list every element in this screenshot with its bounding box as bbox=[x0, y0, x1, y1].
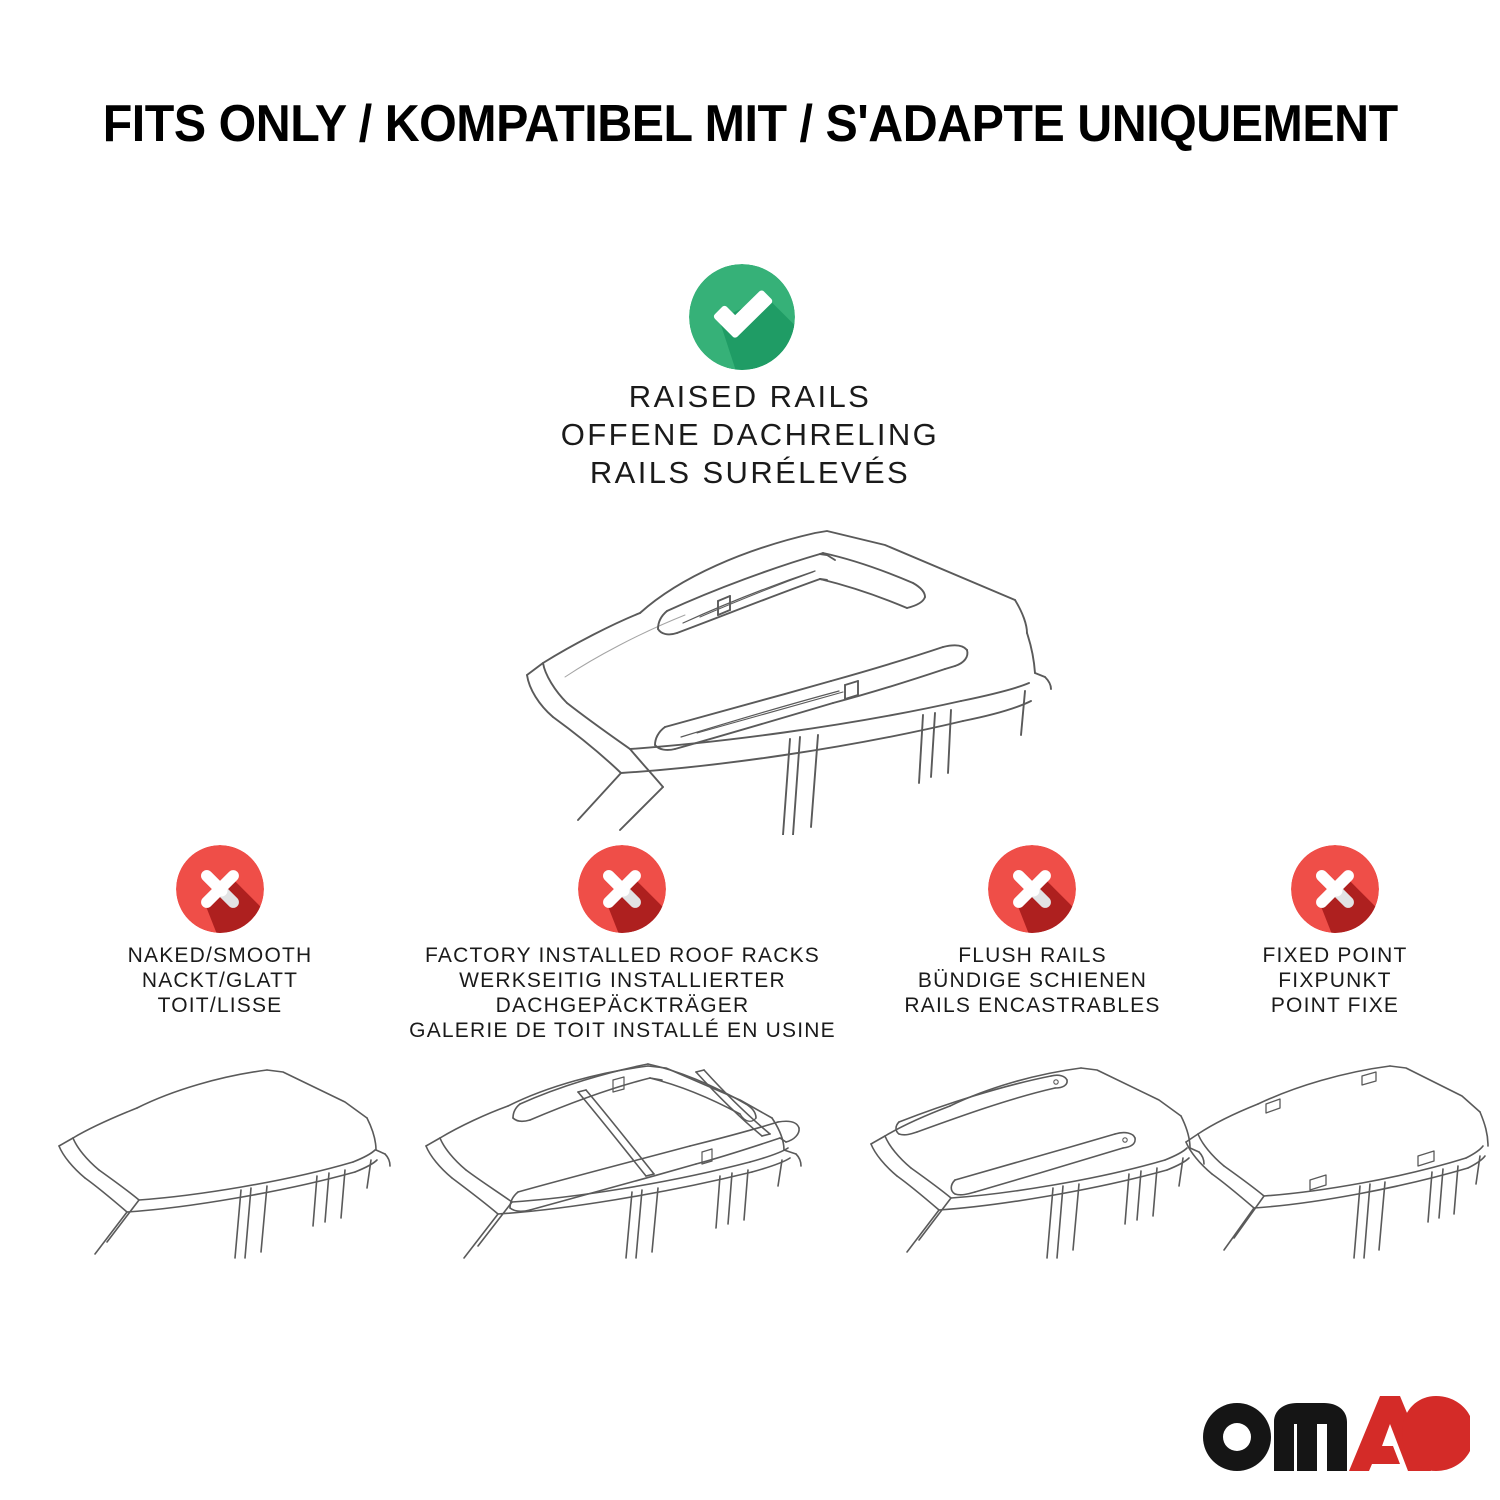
option-caption-line-2: NACKT/GLATT bbox=[45, 968, 395, 993]
hero-caption-line-1: RAISED RAILS bbox=[0, 378, 1500, 416]
hero-caption-line-3: RAILS SURÉLEVÉS bbox=[0, 454, 1500, 492]
option-caption-line-4: GALERIE DE TOIT INSTALLÉ EN USINE bbox=[400, 1018, 845, 1043]
option-caption-line-3: RAILS ENCASTRABLES bbox=[855, 993, 1210, 1018]
hero-caption-line-2: OFFENE DACHRELING bbox=[0, 416, 1500, 454]
omac-logo bbox=[1202, 1394, 1470, 1472]
fitment-infographic: FITS ONLY / KOMPATIBEL MIT / S'ADAPTE UN… bbox=[0, 0, 1500, 1500]
option-caption: FLUSH RAILS BÜNDIGE SCHIENEN RAILS ENCAS… bbox=[855, 943, 1210, 1018]
car-roof-factory-racks-illustration bbox=[400, 1060, 845, 1260]
option-caption-line-2: FIXPUNKT bbox=[1180, 968, 1490, 993]
option-caption-line-1: FIXED POINT bbox=[1180, 943, 1490, 968]
page-title-text: FITS ONLY / KOMPATIBEL MIT / S'ADAPTE UN… bbox=[103, 98, 1398, 150]
option-caption-line-3: TOIT/LISSE bbox=[45, 993, 395, 1018]
cross-circle-icon bbox=[988, 845, 1076, 933]
car-roof-fixed-point-illustration bbox=[1180, 1060, 1490, 1260]
hero-caption: RAISED RAILS OFFENE DACHRELING RAILS SUR… bbox=[0, 378, 1500, 492]
page-title: FITS ONLY / KOMPATIBEL MIT / S'ADAPTE UN… bbox=[0, 98, 1500, 150]
option-caption: FACTORY INSTALLED ROOF RACKS WERKSEITIG … bbox=[400, 943, 845, 1043]
cross-circle-icon bbox=[578, 845, 666, 933]
check-circle-icon bbox=[689, 264, 795, 370]
car-roof-flush-rails-illustration bbox=[855, 1060, 1210, 1260]
option-caption: NAKED/SMOOTH NACKT/GLATT TOIT/LISSE bbox=[45, 943, 395, 1018]
car-roof-naked-smooth-illustration bbox=[45, 1060, 395, 1260]
incompatible-options: NAKED/SMOOTH NACKT/GLATT TOIT/LISSE bbox=[0, 845, 1500, 1305]
option-caption: FIXED POINT FIXPUNKT POINT FIXE bbox=[1180, 943, 1490, 1018]
option-caption-line-3: DACHGEPÄCKTRÄGER bbox=[400, 993, 845, 1018]
option-caption-line-1: FACTORY INSTALLED ROOF RACKS bbox=[400, 943, 845, 968]
car-roof-raised-rails-illustration bbox=[415, 505, 1105, 835]
option-caption-line-3: POINT FIXE bbox=[1180, 993, 1490, 1018]
option-caption-line-1: FLUSH RAILS bbox=[855, 943, 1210, 968]
option-caption-line-2: WERKSEITIG INSTALLIERTER bbox=[400, 968, 845, 993]
cross-circle-icon bbox=[1291, 845, 1379, 933]
option-caption-line-1: NAKED/SMOOTH bbox=[45, 943, 395, 968]
cross-circle-icon bbox=[176, 845, 264, 933]
option-caption-line-2: BÜNDIGE SCHIENEN bbox=[855, 968, 1210, 993]
